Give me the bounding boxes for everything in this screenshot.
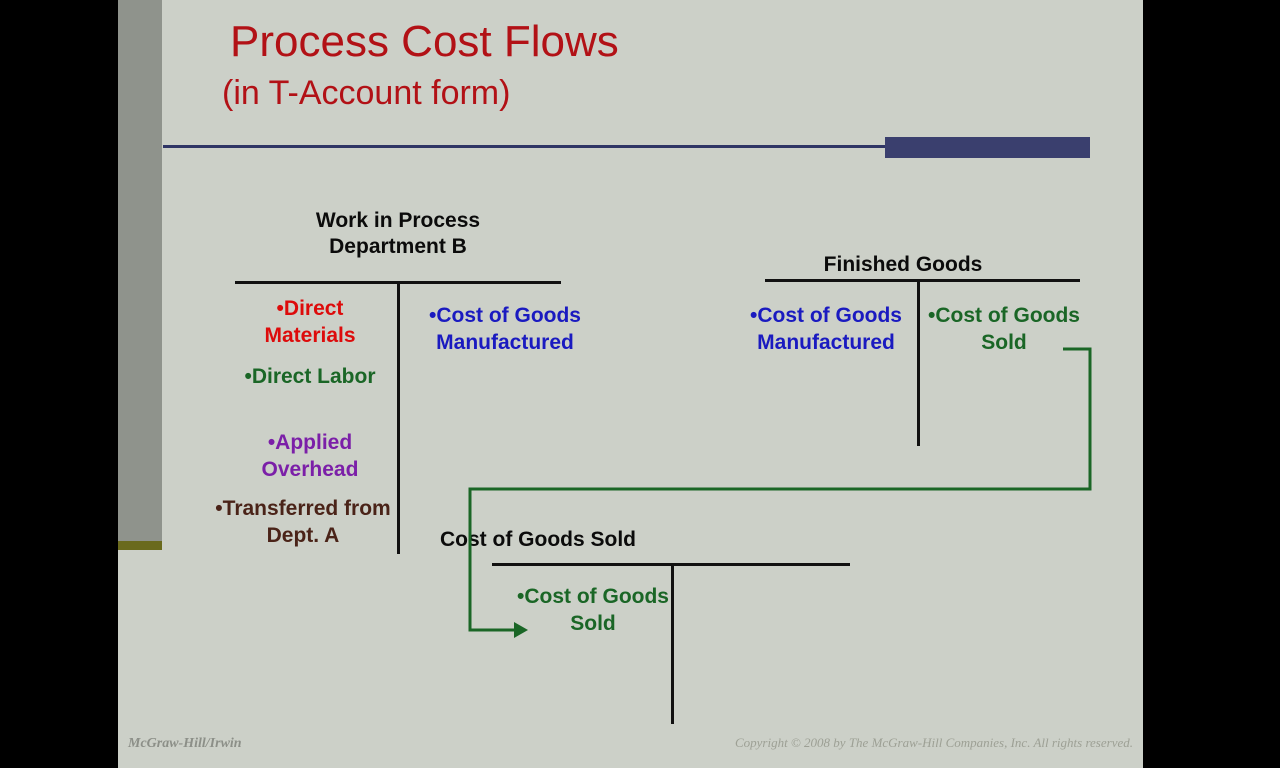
slide-root: Process Cost Flows (in T-Account form) W… [0, 0, 1280, 768]
title-divider-rule [163, 145, 885, 148]
wip-debit-direct-labor: •Direct Labor [230, 364, 390, 391]
footer-copyright: Copyright © 2008 by The McGraw-Hill Comp… [735, 735, 1133, 751]
t-account-hline-finished-goods [765, 279, 1080, 282]
fg-debit-cost-of-goods-manufactured: •Cost of Goods Manufactured [726, 303, 926, 357]
slide-canvas: Process Cost Flows (in T-Account form) W… [118, 0, 1143, 768]
t-account-title-work-in-process: Work in Process Department B [258, 208, 538, 259]
wip-debit-applied-overhead: •Applied Overhead [230, 430, 390, 484]
wip-credit-cost-of-goods-manufactured: •Cost of Goods Manufactured [405, 303, 605, 357]
fg-credit-cost-of-goods-sold: •Cost of Goods Sold [924, 303, 1084, 357]
wip-debit-direct-materials: •Direct Materials [230, 296, 390, 350]
cogs-debit-cost-of-goods-sold: •Cost of Goods Sold [513, 584, 673, 638]
left-olive-accent-strip [118, 541, 162, 550]
slide-title-block: Process Cost Flows (in T-Account form) [230, 20, 930, 110]
page-subtitle: (in T-Account form) [222, 76, 930, 110]
t-account-title-finished-goods: Finished Goods [778, 252, 1028, 278]
wip-debit-transferred-from-dept-a: •Transferred from Dept. A [213, 496, 393, 550]
left-gray-accent-bar [118, 0, 162, 541]
t-account-vline-work-in-process [397, 281, 400, 554]
title-accent-block [885, 137, 1090, 158]
t-account-title-cost-of-goods-sold: Cost of Goods Sold [388, 527, 688, 553]
footer-brand: McGraw-Hill/Irwin [128, 736, 242, 752]
page-title: Process Cost Flows [230, 20, 930, 64]
